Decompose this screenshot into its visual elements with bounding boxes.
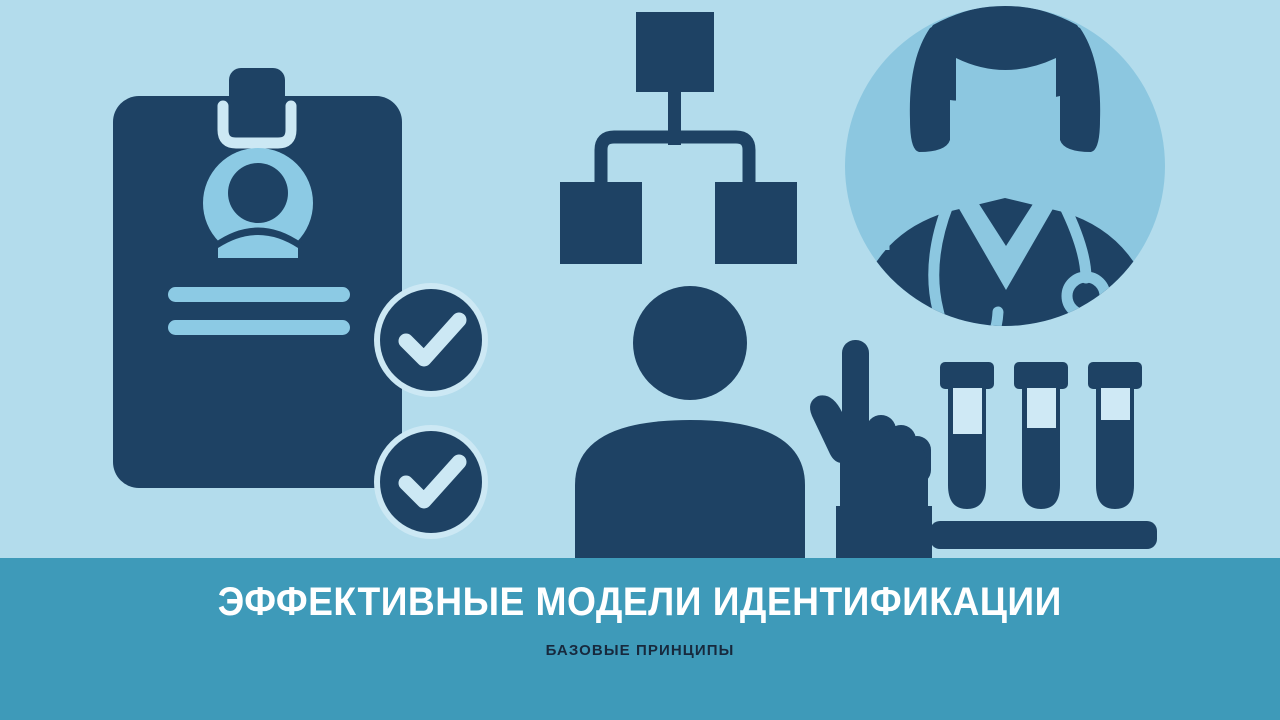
caption-banner: ЭФФЕКТИВНЫЕ МОДЕЛИ ИДЕНТИФИКАЦИИ БАЗОВЫЕ… — [0, 558, 1280, 720]
hand-wrist — [836, 506, 932, 558]
page-title: ЭФФЕКТИВНЫЕ МОДЕЛИ ИДЕНТИФИКАЦИИ — [218, 582, 1062, 622]
page-subtitle: БАЗОВЫЕ ПРИНЦИПЫ — [546, 642, 735, 659]
hierarchy-node-top — [636, 12, 714, 92]
verified-check-badge-top — [374, 283, 488, 397]
person-body — [575, 420, 805, 558]
id-card-line-1 — [168, 287, 350, 302]
slide-root: ЭФФЕКТИВНЫЕ МОДЕЛИ ИДЕНТИФИКАЦИИ БАЗОВЫЕ… — [0, 0, 1280, 720]
person-head — [633, 286, 747, 400]
hierarchy-node-left — [560, 182, 642, 264]
illustration-artboard — [0, 0, 1280, 558]
test-tube-2-cap — [1014, 362, 1068, 389]
test-tube-1-label-window — [953, 388, 982, 434]
test-tube-3-cap — [1088, 362, 1142, 389]
id-card-clipboard — [113, 68, 402, 488]
test-tube-2 — [1014, 362, 1068, 509]
verified-check-badge-bottom — [374, 425, 488, 539]
doctor-neck — [985, 160, 1027, 192]
test-tube-rack-base — [930, 521, 1157, 549]
test-tube-1 — [940, 362, 994, 509]
avatar-head-cutout — [228, 163, 288, 223]
id-card-line-2 — [168, 320, 350, 335]
doctor-face — [956, 58, 1056, 172]
test-tube-3 — [1088, 362, 1142, 509]
hierarchy-node-right — [715, 182, 797, 264]
test-tube-3-label-window — [1101, 388, 1130, 420]
id-card-avatar — [203, 148, 313, 262]
test-tube-1-cap — [940, 362, 994, 389]
test-tube-2-label-window — [1027, 388, 1056, 428]
